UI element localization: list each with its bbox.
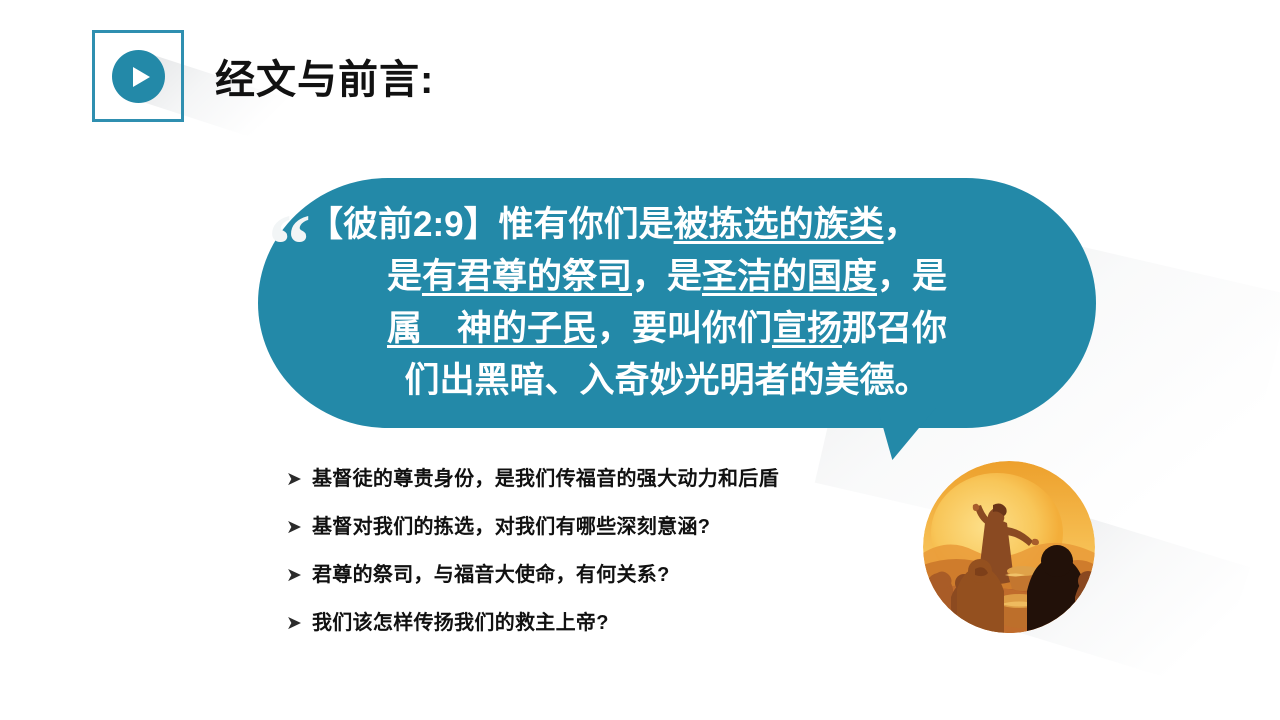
quote-run-3-1: 属 神的子民 xyxy=(387,309,597,348)
quote-run-3-2: ，要叫你们 xyxy=(597,309,772,348)
quote-run-2-4: 圣洁的国度 xyxy=(702,257,877,296)
quote-run-2-3: ，是 xyxy=(632,257,702,296)
list-item-label: 君尊的祭司，与福音大使命，有何关系? xyxy=(312,558,670,587)
quote-mark-icon: “ xyxy=(268,210,309,279)
arrow-bullet-icon: ➤ xyxy=(286,470,312,489)
list-item: ➤ 基督徒的尊贵身份，是我们传福音的强大动力和后盾 xyxy=(286,462,926,506)
list-item-label: 基督徒的尊贵身份，是我们传福音的强大动力和后盾 xyxy=(312,462,779,491)
list-item: ➤ 基督对我们的拣选，对我们有哪些深刻意涵? xyxy=(286,510,926,554)
quote-run-1-2: 被拣选的族类 xyxy=(674,205,884,244)
page-title: 经文与前言: xyxy=(215,47,434,105)
list-item-label: 我们该怎样传扬我们的救主上帝? xyxy=(312,606,609,635)
quote-line-2: 是有君尊的祭司，是圣洁的国度，是 xyxy=(308,251,1026,303)
quote-run-1-3: ， xyxy=(884,205,919,244)
quote-line-3: 属 神的子民，要叫你们宣扬那召你 xyxy=(308,303,1026,355)
scripture-quote-text: 【彼前2:9】惟有你们是被拣选的族类， 是有君尊的祭司，是圣洁的国度，是 属 神… xyxy=(308,199,1026,407)
quote-run-2-2: 有君尊的祭司 xyxy=(422,257,632,296)
slide-header: 经文与前言: xyxy=(0,0,1280,150)
slide-canvas: 经文与前言: “ 【彼前2:9】惟有你们是被拣选的族类， 是有君尊的祭司，是圣洁… xyxy=(0,0,1280,720)
play-icon[interactable] xyxy=(112,50,165,103)
list-item-label: 基督对我们的拣选，对我们有哪些深刻意涵? xyxy=(312,510,710,539)
quote-run-3-3: 宣扬 xyxy=(772,309,842,348)
discussion-question-list: ➤ 基督徒的尊贵身份，是我们传福音的强大动力和后盾 ➤ 基督对我们的拣选，对我们… xyxy=(286,462,926,654)
quote-run-1-1: 【彼前2:9】惟有你们是 xyxy=(308,205,674,244)
arrow-bullet-icon: ➤ xyxy=(286,566,312,585)
quote-line-1: 【彼前2:9】惟有你们是被拣选的族类， xyxy=(308,199,1026,251)
quote-bubble-tail xyxy=(870,408,935,460)
quote-line-4: 们出黑暗、入奇妙光明者的美德。 xyxy=(308,355,1026,407)
quote-run-2-5: ，是 xyxy=(877,257,947,296)
arrow-bullet-icon: ➤ xyxy=(286,518,312,537)
quote-run-4-1: 们出黑暗、入奇妙光明者的美德。 xyxy=(404,361,929,400)
jesus-teaching-crowd-illustration xyxy=(923,461,1095,633)
arrow-bullet-icon: ➤ xyxy=(286,614,312,633)
quote-run-3-4: 那召你 xyxy=(842,309,947,348)
quote-run-2-1: 是 xyxy=(387,257,422,296)
list-item: ➤ 君尊的祭司，与福音大使命，有何关系? xyxy=(286,558,926,602)
list-item: ➤ 我们该怎样传扬我们的救主上帝? xyxy=(286,606,926,650)
